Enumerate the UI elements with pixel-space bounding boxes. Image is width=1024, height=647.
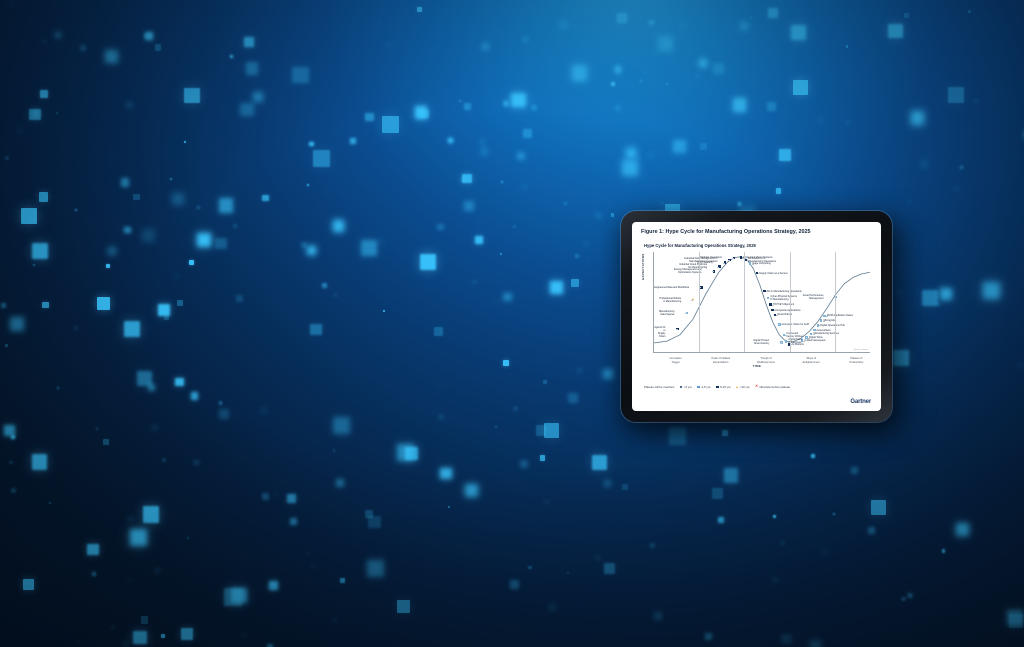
particle-square [130, 529, 148, 547]
legend-label: 5-10 yrs. [720, 385, 731, 389]
particle-square [127, 103, 131, 107]
particle-square [219, 401, 222, 404]
particle-square [269, 581, 278, 590]
technology-label: Manufacturing Data Spaces [659, 310, 674, 316]
particle-square [440, 386, 442, 388]
particle-square [189, 260, 194, 265]
particle-square [172, 193, 184, 205]
particle-square [365, 510, 373, 518]
particle-square [968, 10, 971, 13]
particle-square [163, 459, 165, 461]
particle-square [262, 493, 269, 500]
particle-square [975, 100, 977, 102]
particle-square [464, 201, 474, 211]
particle-square [960, 166, 963, 169]
particle-square [597, 557, 599, 559]
particle-square [21, 208, 37, 224]
particle-square [417, 7, 422, 12]
particle-square [1007, 610, 1023, 626]
phase-label: Peak of Inflated Expectations [699, 357, 743, 364]
particle-square [175, 274, 178, 277]
technology-label: Microgrids [824, 319, 835, 322]
particle-square [820, 119, 822, 121]
particle-square [105, 50, 118, 63]
particle-square [540, 455, 545, 460]
particle-square [133, 194, 139, 200]
particle-square [473, 281, 475, 283]
particle-square [434, 327, 443, 336]
particle-square [937, 303, 939, 305]
particle-square [246, 62, 258, 74]
particle-square [811, 454, 815, 458]
particle-square [617, 13, 627, 23]
particle-square [738, 202, 742, 206]
particle-square [649, 154, 653, 158]
particle-square [532, 105, 537, 110]
phase-divider [699, 252, 700, 352]
particle-square [616, 106, 620, 110]
particle-square [333, 220, 345, 232]
particle-square [465, 484, 478, 497]
particle-square [184, 141, 186, 143]
particle-square [611, 82, 616, 87]
particle-square [615, 66, 622, 73]
particle-square [822, 549, 827, 554]
particle-square [572, 65, 587, 80]
particle-square [1020, 364, 1022, 366]
particle-square [871, 500, 886, 515]
particle-square [640, 80, 642, 82]
particle-square [513, 225, 516, 228]
particle-square [4, 425, 15, 436]
particle-square [810, 640, 821, 647]
particle-square [718, 517, 724, 523]
legend-label: 2-5 yrs. [701, 385, 711, 389]
particle-square [604, 480, 611, 487]
technology-label: AI Platform [792, 343, 804, 346]
particle-square [350, 138, 356, 144]
particle-square [361, 240, 378, 257]
particle-square [666, 83, 668, 85]
phase-divider [744, 252, 745, 352]
particle-square [327, 191, 329, 193]
x-axis-label: TIME [644, 364, 870, 368]
particle-square [275, 492, 277, 494]
plateau-legend: Plateau will be reached: <2 yrs.2-5 yrs.… [644, 385, 790, 389]
legend-label: <2 yrs. [684, 385, 693, 389]
particle-square [774, 578, 776, 580]
particle-square [381, 240, 383, 242]
particle-square [23, 579, 34, 590]
particle-square [464, 103, 471, 110]
particle-square [544, 423, 559, 438]
particle-square [725, 507, 727, 509]
particle-square [503, 293, 512, 302]
particle-square [908, 594, 912, 598]
particle-square [161, 634, 164, 637]
particle-square [43, 40, 47, 44]
particle-square [309, 142, 314, 147]
particle-square [128, 579, 130, 581]
particle-square [145, 32, 153, 40]
particle-square [779, 149, 791, 161]
tablet-screen[interactable]: Figure 1: Hype Cycle for Manufacturing O… [632, 222, 881, 411]
particle-square [80, 45, 86, 51]
particle-square [92, 572, 97, 577]
particle-square [712, 488, 723, 499]
particle-square [904, 13, 909, 18]
phase-divider [835, 252, 836, 352]
particle-square [175, 378, 184, 387]
particle-square [750, 17, 752, 19]
particle-square [528, 566, 531, 569]
particle-square [143, 506, 160, 523]
particle-square [781, 634, 791, 644]
particle-square [481, 140, 485, 144]
particle-square [367, 560, 384, 577]
hype-cycle-chart: EXPECTATIONS Agentic AI in Supply ChainM… [644, 252, 870, 369]
particle-square [55, 32, 62, 39]
particle-square [108, 247, 116, 255]
source-note: Source: Gartner [854, 349, 868, 351]
particle-square [307, 246, 316, 255]
particle-square [10, 317, 24, 331]
particle-square [334, 294, 336, 296]
particle-square [567, 572, 569, 574]
particle-square [833, 513, 835, 515]
particle-square [87, 544, 99, 556]
particle-square [518, 153, 524, 159]
gartner-document: Figure 1: Hype Cycle for Manufacturing O… [632, 222, 881, 411]
particle-square [340, 578, 345, 583]
particle-square [901, 597, 906, 602]
particle-square [382, 116, 399, 133]
particle-square [522, 462, 527, 467]
particle-square [503, 360, 509, 366]
technology-label: Composite Applications [775, 309, 800, 312]
technology-label: Modular Operations [700, 256, 721, 259]
particle-square [722, 430, 728, 436]
particle-square [578, 369, 581, 372]
particle-square [940, 288, 952, 300]
particle-square [310, 324, 322, 336]
particle-square [724, 468, 739, 483]
particle-square [922, 290, 939, 307]
particle-square [482, 149, 487, 154]
particle-square [543, 380, 547, 384]
phase-divider [790, 252, 791, 352]
particle-square [365, 113, 374, 122]
technology-label: Edge Computing [753, 262, 771, 265]
particle-square [846, 121, 849, 124]
particle-square [177, 300, 183, 306]
particle-square [32, 457, 34, 459]
technology-label: Unified Namespace [804, 339, 825, 342]
particle-square [448, 138, 453, 143]
particle-square [243, 634, 246, 637]
particle-square [846, 45, 848, 47]
particle-square [551, 606, 554, 609]
particle-square [942, 549, 945, 552]
particle-square [437, 224, 444, 231]
technology-label: Agentic AI in Supply Chain [654, 326, 665, 338]
particle-square [124, 643, 127, 646]
particle-square [733, 98, 747, 112]
particle-square [585, 243, 587, 245]
particle-square [776, 188, 782, 194]
particle-square [18, 129, 22, 133]
particle-square [336, 479, 344, 487]
particle-square [983, 282, 1001, 300]
particle-square [440, 468, 452, 480]
particle-square [622, 160, 638, 176]
particle-square [187, 537, 189, 539]
particle-square [155, 44, 162, 51]
particle-square [154, 426, 156, 428]
phase-label: Innovation Trigger [654, 357, 698, 364]
particle-square [158, 304, 170, 316]
particle-square [448, 506, 450, 508]
legend-item: 5-10 yrs. [716, 385, 731, 389]
particle-square [155, 568, 160, 573]
particle-square [137, 371, 152, 386]
particle-square [768, 8, 778, 18]
technology-label: MOM Application Suites [827, 314, 853, 317]
chart-title: Hype Cycle for Manufacturing Operations … [644, 243, 872, 248]
particle-square [568, 393, 579, 404]
particle-square [10, 2, 12, 4]
particle-square [504, 101, 508, 105]
particle-square [603, 369, 613, 379]
legend-item: >10 yrs. [736, 385, 750, 389]
particle-square [956, 523, 969, 536]
particle-square [287, 494, 296, 503]
legend-item: ✕Obsolete before plateau [755, 385, 790, 389]
particle-square [6, 157, 8, 159]
particle-square [383, 310, 385, 312]
particle-square [34, 111, 38, 115]
particle-square [510, 580, 519, 589]
particle-square [397, 600, 410, 613]
particle-square [908, 201, 910, 203]
particle-square [656, 614, 660, 618]
particle-square [713, 63, 724, 74]
particle-square [197, 233, 211, 247]
phase-label: Trough of Disillusionment [744, 357, 788, 364]
particle-square [33, 264, 35, 266]
particle-square [397, 444, 415, 462]
particle-square [12, 489, 15, 492]
particle-square [77, 641, 79, 643]
particle-square [191, 392, 199, 400]
particle-square [523, 129, 532, 138]
particle-square [292, 67, 309, 84]
particle-square [129, 517, 133, 521]
particle-square [32, 243, 48, 259]
technology-label: 5G in Manufacturing Operations [767, 290, 802, 293]
particle-square [781, 541, 784, 544]
particle-square [899, 265, 901, 267]
technology-label: Industrial Cloud Platforms for Manufactu… [679, 263, 707, 269]
particle-square [524, 38, 527, 41]
technology-label: Cyber-Physical Systems in Manufacturing [771, 295, 797, 301]
particle-square [312, 565, 314, 567]
particle-square [851, 467, 858, 474]
particle-square [604, 563, 614, 573]
particle-square [592, 455, 607, 470]
technology-label: Professional Robots in Manufacturing [659, 297, 681, 303]
particle-square [611, 213, 615, 217]
legend-label: Obsolete before plateau [759, 385, 790, 389]
particle-square [379, 22, 381, 24]
particle-square [240, 103, 254, 117]
particle-square [219, 198, 233, 212]
particle-square [661, 202, 663, 204]
particle-square [868, 527, 875, 534]
particle-square [767, 102, 777, 112]
particle-square [511, 93, 525, 107]
particle-square [681, 24, 684, 27]
particle-square [290, 518, 297, 525]
particle-square [230, 55, 232, 57]
particle-square [514, 407, 517, 410]
particle-square [184, 88, 200, 104]
particle-square [263, 409, 266, 412]
particle-square [791, 25, 807, 41]
particle-square [388, 44, 390, 46]
figure-title: Figure 1: Hype Cycle for Manufacturing O… [641, 229, 872, 235]
particle-square [262, 195, 269, 202]
particle-square [333, 449, 336, 452]
particle-square [705, 633, 712, 640]
particle-square [121, 178, 130, 187]
particle-square [638, 157, 640, 159]
particle-square [142, 229, 155, 242]
particle-square [893, 350, 909, 366]
particle-square [523, 185, 526, 188]
legend-item: 2-5 yrs. [697, 385, 711, 389]
particle-square [112, 626, 115, 629]
particle-square [307, 553, 309, 555]
particle-square [42, 302, 49, 309]
particle-square [349, 120, 351, 122]
square-dark-icon [716, 386, 719, 389]
square-light-icon [697, 386, 700, 389]
particle-square [571, 279, 579, 287]
particle-square [921, 160, 929, 168]
chart-plot-area: Agentic AI in Supply ChainManufacturing … [653, 252, 870, 353]
particle-square [475, 236, 483, 244]
particle-square [673, 140, 686, 153]
particle-square [564, 202, 567, 205]
particle-square [231, 588, 246, 603]
particle-square [415, 106, 428, 119]
particle-square [181, 628, 193, 640]
particle-square [40, 90, 48, 98]
particle-square [495, 301, 497, 303]
particle-square [649, 20, 655, 26]
particle-square [170, 178, 172, 180]
particle-square [622, 484, 628, 490]
particle-square [483, 44, 488, 49]
particle-square [9, 461, 13, 465]
particle-square [626, 148, 636, 158]
particle-square [334, 619, 336, 621]
particle-square [700, 143, 708, 151]
technology-label: Asset Performance Management [803, 294, 824, 300]
legend-item: <2 yrs. [680, 385, 693, 389]
particle-square [696, 75, 698, 77]
particle-square [32, 454, 47, 469]
particle-square [244, 37, 254, 47]
triangle-icon [736, 386, 738, 388]
gartner-logo: Gartner [850, 399, 871, 405]
phase-label: Plateau of Productivity [834, 357, 878, 364]
particle-square [651, 544, 654, 547]
particle-square [658, 36, 674, 52]
particle-square [597, 214, 600, 217]
particle-square [322, 283, 327, 288]
particle-square [39, 192, 49, 202]
technology-label: Digital Twins [809, 336, 823, 339]
particle-square [124, 227, 131, 234]
obsolete-cross-icon: ✕ [755, 385, 758, 388]
technology-label: Computer Vision for AoM [782, 323, 809, 326]
technology-label: Digital Operations Hub [820, 324, 845, 327]
particle-square [793, 80, 807, 94]
particle-square [106, 264, 110, 268]
particle-square [546, 501, 548, 503]
technology-label: Digital Thread: Smart Factory [754, 339, 770, 345]
particle-square [575, 254, 579, 258]
technology-label: Futureshield [817, 329, 830, 332]
particle-square [215, 238, 227, 250]
particle-square [133, 631, 146, 644]
particle-square [550, 281, 562, 293]
particle-square [911, 111, 924, 124]
particle-square [141, 616, 149, 624]
particle-square [219, 409, 229, 419]
particle-square [478, 221, 480, 223]
technology-label: Engineered Data and Workflows [654, 286, 689, 289]
particle-square [500, 253, 502, 255]
particle-square [439, 415, 444, 420]
tablet-device: Figure 1: Hype Cycle for Manufacturing O… [621, 211, 892, 422]
particle-square [197, 206, 201, 210]
particle-square [49, 502, 51, 504]
particle-square [236, 295, 243, 302]
particle-square [462, 174, 471, 183]
particle-square [5, 344, 8, 347]
particle-square [1, 303, 6, 308]
circle-open-icon [680, 386, 683, 389]
particle-square [75, 327, 77, 329]
particle-square [740, 22, 748, 30]
y-axis-label: EXPECTATIONS [641, 253, 645, 280]
particle-square [97, 297, 110, 310]
particle-square [195, 461, 198, 464]
particle-square [56, 112, 58, 114]
particle-square [75, 209, 77, 211]
legend-label: >10 yrs. [740, 385, 750, 389]
technology-label: Supply Chain as a Service [759, 272, 788, 275]
particle-square [253, 92, 264, 103]
particle-square [124, 321, 141, 338]
particle-square [883, 208, 885, 210]
particle-square [307, 184, 309, 186]
particle-square [966, 183, 968, 185]
particle-square [955, 187, 958, 190]
